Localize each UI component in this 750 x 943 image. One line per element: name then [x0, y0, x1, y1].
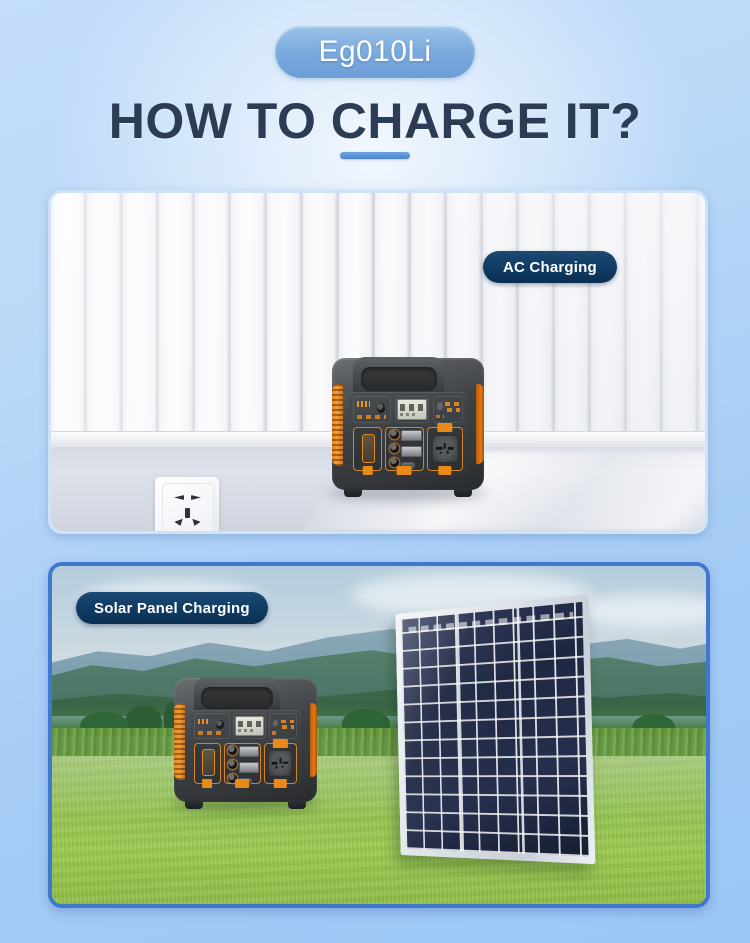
lcd-digits [238, 721, 261, 727]
lcd-screen [235, 716, 264, 736]
led-label-tag [203, 779, 213, 788]
title-underline-accent [340, 152, 410, 159]
page-title: HOW TO CHARGE IT? [0, 92, 750, 150]
dc-output-port [390, 430, 399, 439]
device-logo [198, 719, 210, 724]
dc-output-group [386, 428, 400, 470]
usb-port [239, 762, 258, 773]
lcd-screen [397, 399, 428, 420]
power-button[interactable] [437, 402, 443, 411]
device-brand-area [353, 396, 391, 424]
power-button-label [272, 731, 279, 734]
device-top-row [353, 396, 462, 424]
socket-slot-icon [185, 508, 190, 518]
socket-hole [446, 451, 448, 453]
socket-slot-icon [174, 495, 184, 500]
ac-outlet-module [264, 743, 297, 785]
wall-socket [155, 477, 219, 534]
lcd-display [233, 713, 266, 739]
power-button-label [436, 415, 443, 418]
device-power-area [269, 713, 297, 739]
device-vent-left [332, 384, 343, 466]
lcd-subtext [400, 413, 417, 416]
device-foot [185, 800, 203, 809]
led-light-module [353, 427, 381, 471]
socket-hole [444, 442, 446, 448]
device-feet [344, 488, 472, 497]
solar-busbar [516, 608, 524, 854]
led-light-module [194, 743, 221, 785]
ac-universal-socket [432, 435, 459, 463]
power-station-device [332, 358, 484, 490]
power-station-label2 [282, 725, 294, 729]
solar-busbar [456, 614, 464, 851]
power-button[interactable] [273, 720, 278, 729]
dc-usb-label-tag [235, 779, 249, 788]
solar-panel-frame [395, 594, 595, 864]
dc-input-jack [216, 720, 223, 729]
usb-port-group [400, 428, 423, 470]
device-power-area [433, 396, 463, 424]
badge-ac-charging-label: AC Charging [503, 259, 597, 276]
device-vent-right [476, 384, 484, 463]
device-control-panel [190, 710, 302, 787]
socket-slot-icon [191, 495, 201, 500]
device-foot [344, 488, 362, 497]
device-control-panel [349, 392, 468, 474]
brand-badge-label: Eg010Li [319, 35, 432, 69]
dc-output-port [390, 444, 399, 453]
dc-output-port [228, 746, 237, 755]
power-station-label [445, 402, 459, 406]
solar-panel-spec-label [409, 612, 574, 634]
device-vent-left [174, 703, 185, 780]
ac-outlet-top-tag [437, 423, 452, 432]
socket-hole [272, 762, 278, 764]
dc-usb-label-tag [397, 466, 412, 475]
usb-port [239, 746, 258, 757]
usb-port [401, 430, 422, 441]
device-logo [357, 401, 369, 407]
lcd-subtext [238, 729, 254, 732]
device-vent-right [310, 703, 317, 777]
ac-universal-socket [268, 750, 293, 776]
device-spec-text [198, 731, 225, 735]
power-station-label [281, 720, 294, 724]
solar-panel-cells [401, 602, 589, 857]
lcd-display [395, 396, 430, 424]
power-station-device [174, 678, 317, 802]
socket-hole [436, 447, 442, 450]
device-brand-area [194, 713, 230, 739]
led-light-bar [362, 434, 376, 463]
socket-slot-icon [174, 519, 185, 528]
device-bottom-row [353, 427, 462, 471]
brand-badge: Eg010Li [275, 26, 475, 78]
socket-hole [279, 757, 281, 763]
badge-solar-charging: Solar Panel Charging [76, 592, 268, 624]
usb-port-group [238, 744, 260, 784]
socket-hole [283, 761, 288, 764]
socket-hole [440, 452, 442, 454]
device-spec-text [357, 415, 386, 419]
socket-hole [282, 766, 284, 768]
led-light-bar [202, 749, 215, 776]
dc-usb-module [224, 743, 261, 785]
badge-solar-charging-label: Solar Panel Charging [94, 600, 250, 617]
device-foot [454, 488, 472, 497]
socket-slot-icon [190, 519, 201, 528]
socket-faceplate [162, 483, 214, 534]
led-label-tag [362, 466, 372, 475]
socket-hole [448, 447, 453, 450]
ac-scene [51, 193, 705, 531]
device-foot [288, 800, 306, 809]
socket-hole [276, 766, 278, 768]
dc-usb-module [385, 427, 424, 471]
device-handle-grip [201, 687, 273, 709]
panel-ac-charging: AC Charging [48, 190, 708, 534]
page-header: Eg010Li HOW TO CHARGE IT? [0, 0, 750, 180]
dc-output-port [228, 760, 237, 769]
device-bottom-row [194, 743, 297, 785]
solar-panel [362, 594, 592, 864]
ac-outlet-top-tag [273, 739, 287, 748]
device-feet [185, 800, 305, 809]
ac-outlet-label-tag [274, 779, 286, 788]
ac-outlet-label-tag [438, 466, 451, 475]
ac-outlet-module [427, 427, 462, 471]
usb-port [401, 446, 422, 457]
panel-solar-charging: Solar Panel Charging [48, 562, 710, 908]
dc-input-jack [377, 403, 385, 413]
device-top-row [194, 713, 297, 739]
lcd-digits [400, 404, 424, 410]
dc-output-group [225, 744, 238, 784]
power-station-label2 [447, 408, 460, 412]
badge-ac-charging: AC Charging [483, 251, 617, 283]
device-handle-grip [361, 367, 437, 391]
